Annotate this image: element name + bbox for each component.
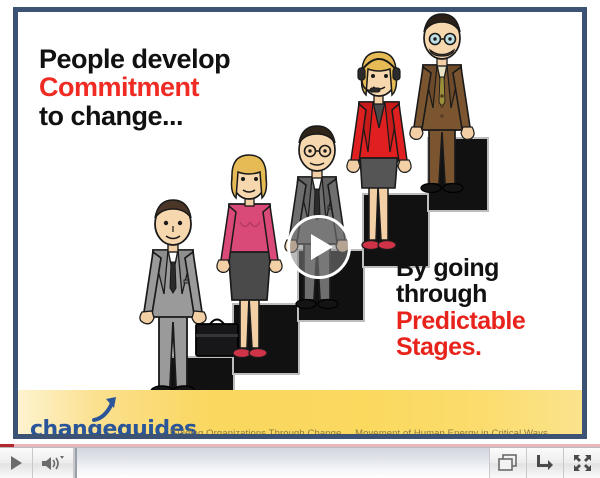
progress-bar[interactable] [74, 448, 489, 478]
share-button[interactable] [526, 448, 563, 478]
headline-left-line-1: People develop [39, 45, 230, 73]
play-control-button[interactable] [0, 448, 33, 478]
slide-canvas: People develop Commitment to change... B… [18, 12, 582, 434]
headline-left: People develop Commitment to change... [39, 45, 230, 130]
swoosh-icon [92, 396, 122, 422]
headline-right-line-1: By going [396, 255, 525, 281]
play-triangle-icon [311, 234, 333, 260]
headline-right: By going through Predictable Stages. [396, 255, 525, 360]
share-arrow-icon [536, 454, 554, 472]
fullscreen-button[interactable] [563, 448, 600, 478]
headline-left-line-2: Commitment [39, 73, 230, 101]
volume-icon [41, 455, 65, 472]
video-player: People develop Commitment to change... B… [0, 0, 600, 478]
play-icon [9, 455, 24, 471]
headline-right-line-4: Stages. [396, 334, 525, 360]
video-frame: People develop Commitment to change... B… [13, 7, 587, 439]
popout-icon [498, 454, 518, 472]
video-stage[interactable]: People develop Commitment to change... B… [0, 0, 600, 447]
play-button[interactable] [287, 215, 351, 279]
volume-control-button[interactable] [33, 448, 74, 478]
progress-bar-fill [75, 448, 77, 478]
headline-left-line-3: to change... [39, 102, 230, 130]
brand-tagline: Guiding Organizations Through Change ...… [170, 428, 548, 434]
headline-right-line-2: through [396, 281, 525, 307]
headline-right-line-3: Predictable [396, 308, 525, 334]
brand-bar: changeguides Guiding Organizations Throu… [18, 390, 582, 434]
fullscreen-icon [573, 454, 592, 472]
popout-button[interactable] [489, 448, 526, 478]
player-control-bar [0, 447, 600, 478]
